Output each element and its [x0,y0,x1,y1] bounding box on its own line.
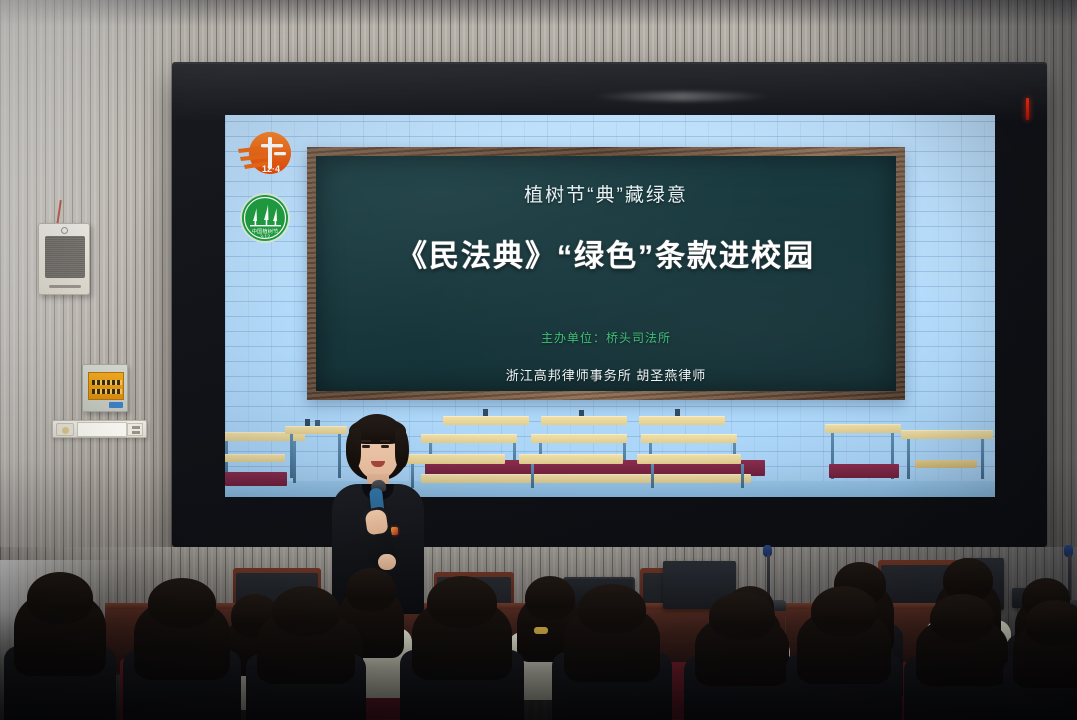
breaker-row-top [92,380,122,385]
light-switch-plate[interactable] [52,420,147,438]
presenter-hair-left [347,428,361,468]
wall-speaker [38,223,90,295]
audience-student [548,606,676,720]
presenter-brow-left [361,440,371,442]
speaker-slot [49,285,81,288]
display-gloss [172,62,1047,122]
student-head [427,576,497,628]
svg-text:3·12: 3·12 [260,234,270,240]
speaker-knob [61,227,68,234]
student-head [930,594,994,642]
presenter-eye-left [362,445,370,448]
switch-right[interactable] [127,423,143,436]
lecture-hall-scene: 12·4 [0,0,1077,720]
electrical-breaker-panel[interactable] [82,364,128,412]
slide-speaker-line: 浙江高邦律师事务所 胡圣燕律师 [506,365,707,384]
breaker-label-tag [109,402,123,408]
presenter-eye-right [381,445,389,448]
audience-student [0,592,120,720]
student-head [811,586,877,636]
slide-host-line: 主办单位：桥头司法所 [541,329,671,346]
speaker-grille [45,236,85,278]
presenter-hand [364,509,388,536]
student-head [148,578,216,628]
audience-student [1000,620,1077,720]
audience-student [242,610,370,720]
slide-title: 《民法典》“绿色”条款进校园 [397,231,815,275]
student-head [709,592,775,640]
svg-text:12·4: 12·4 [262,164,280,174]
switch-middle[interactable] [77,422,127,437]
tree-planting-day-logo-icon: 中国植树节 3·12 [238,191,292,245]
student-hair-tie [534,627,548,634]
ceiling-shadow [0,0,1077,26]
student-head [346,568,396,612]
slide-kicker: 植树节“典”藏绿意 [524,180,688,207]
lapel-pin-icon [391,527,398,535]
slide-blackboard-frame: 植树节“典”藏绿意 《民法典》“绿色”条款进校园 主办单位：桥头司法所 浙江高邦… [307,147,905,400]
breaker-face [88,372,124,400]
audience-student [396,600,528,720]
power-led-icon [1026,98,1029,120]
audience [0,560,1077,720]
presenter-brow-right [380,440,390,442]
student-head [272,586,340,636]
constitution-day-logo-icon: 12·4 [234,123,296,185]
student-head [1025,600,1077,646]
audience-student [782,608,906,720]
student-head [27,572,93,624]
slide-blackboard: 植树节“典”藏绿意 《民法典》“绿色”条款进校园 主办单位：桥头司法所 浙江高邦… [316,156,896,391]
switch-left[interactable] [56,423,74,436]
audience-student [118,600,246,720]
wall-mounted-display[interactable]: 12·4 [172,62,1047,547]
student-head [578,584,646,634]
presenter-hair-right [395,428,409,468]
breaker-row-bottom [92,389,122,394]
